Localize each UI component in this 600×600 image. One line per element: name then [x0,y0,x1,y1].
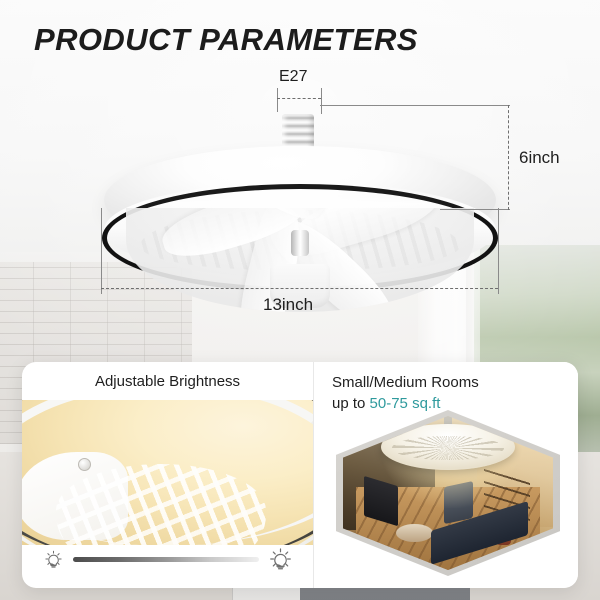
height-extension-top [320,105,510,106]
height-extension-bottom [440,209,510,210]
light-bulb-dim-icon [44,548,63,570]
card-room-size[interactable]: Small/Medium Rooms up to 50-75 sq.ft [314,362,578,588]
e27-measure-line [277,98,321,99]
card-right-title-block: Small/Medium Rooms up to 50-75 sq.ft [332,372,479,414]
feature-cards-panel: Adjustable Brightness [22,362,578,588]
fan-hub [291,230,309,256]
brightness-slider-row[interactable] [22,542,313,576]
product-parameters-infographic: PRODUCT PARAMETERS E27 6inch 13inch [0,0,600,600]
light-bulb-bright-icon [269,546,292,572]
room-interior [343,416,553,570]
e27-tick-left [277,88,278,112]
card-adjustable-brightness[interactable]: Adjustable Brightness [22,362,313,588]
dimension-label-height: 6inch [519,148,560,168]
diameter-extension-right [498,208,499,294]
e27-tick-right [321,88,322,114]
card-left-title: Adjustable Brightness [22,373,313,390]
isometric-room-illustration [336,410,560,576]
diameter-extension-left [101,208,102,294]
brightness-closeup-photo [22,400,313,545]
page-title: PRODUCT PARAMETERS [34,22,418,58]
product-image-ceiling-fan-light [92,100,508,295]
diameter-measure-line [101,288,498,289]
height-measure-line [508,105,509,210]
room-fan-grille [392,436,505,460]
dimension-label-e27: E27 [279,68,307,86]
brightness-slider-track[interactable] [73,557,259,562]
dimension-label-diameter: 13inch [263,295,313,315]
lamp-screw-detail [78,458,91,471]
card-right-title-line1: Small/Medium Rooms [332,372,479,393]
